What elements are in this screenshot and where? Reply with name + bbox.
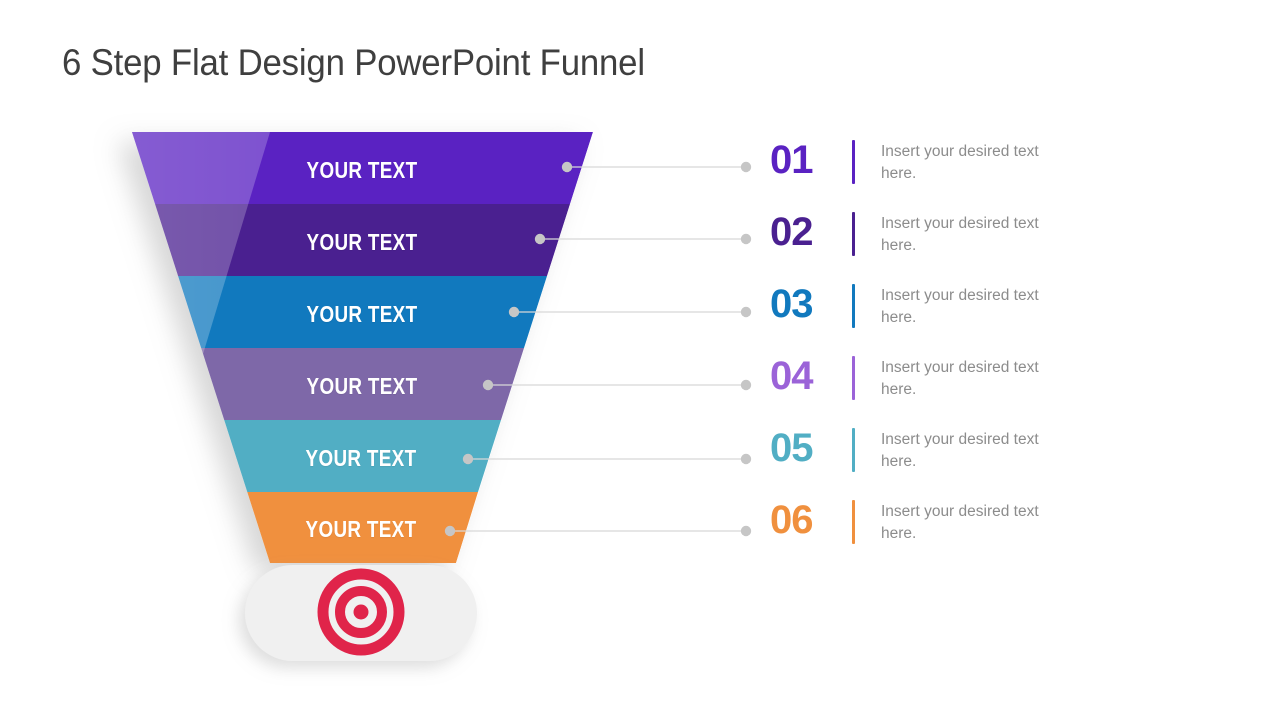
connector-dot-right-2 <box>741 234 751 244</box>
step-number-06: 06 <box>770 492 852 542</box>
step-description-06: Insert your desired text here. <box>881 492 1066 545</box>
step-item-01[interactable]: 01 Insert your desired text here. <box>770 132 1250 204</box>
step-list: 01 Insert your desired text here. 02 Ins… <box>770 132 1250 564</box>
step-description-05: Insert your desired text here. <box>881 420 1066 473</box>
step-accent-bar-01 <box>852 140 855 184</box>
connector-dot-right-5 <box>741 454 751 464</box>
step-item-05[interactable]: 05 Insert your desired text here. <box>770 420 1250 492</box>
funnel-band-3 <box>63 276 547 348</box>
step-number-02: 02 <box>770 204 852 254</box>
connector-dot-right-1 <box>741 162 751 172</box>
step-accent-bar-05 <box>852 428 855 472</box>
step-item-06[interactable]: 06 Insert your desired text here. <box>770 492 1250 564</box>
step-accent-bar-03 <box>852 284 855 328</box>
step-accent-bar-04 <box>852 356 855 400</box>
funnel-band-5 <box>17 420 501 492</box>
step-description-03: Insert your desired text here. <box>881 276 1066 329</box>
funnel-band-4 <box>40 348 524 420</box>
step-number-05: 05 <box>770 420 852 470</box>
step-item-02[interactable]: 02 Insert your desired text here. <box>770 204 1250 276</box>
step-item-03[interactable]: 03 Insert your desired text here. <box>770 276 1250 348</box>
funnel-bands <box>0 132 593 563</box>
step-description-01: Insert your desired text here. <box>881 132 1066 185</box>
connector-dot-right-6 <box>741 526 751 536</box>
step-description-02: Insert your desired text here. <box>881 204 1066 257</box>
step-number-04: 04 <box>770 348 852 398</box>
step-number-01: 01 <box>770 132 852 182</box>
step-number-03: 03 <box>770 276 852 326</box>
step-accent-bar-06 <box>852 500 855 544</box>
funnel-shape <box>0 0 700 700</box>
connector-dot-right-4 <box>741 380 751 390</box>
step-accent-bar-02 <box>852 212 855 256</box>
step-item-04[interactable]: 04 Insert your desired text here. <box>770 348 1250 420</box>
funnel-diagram: YOUR TEXT YOUR TEXT YOUR TEXT YOUR TEXT … <box>0 0 700 700</box>
funnel-band-6 <box>0 492 478 563</box>
connector-dot-right-3 <box>741 307 751 317</box>
step-description-04: Insert your desired text here. <box>881 348 1066 401</box>
